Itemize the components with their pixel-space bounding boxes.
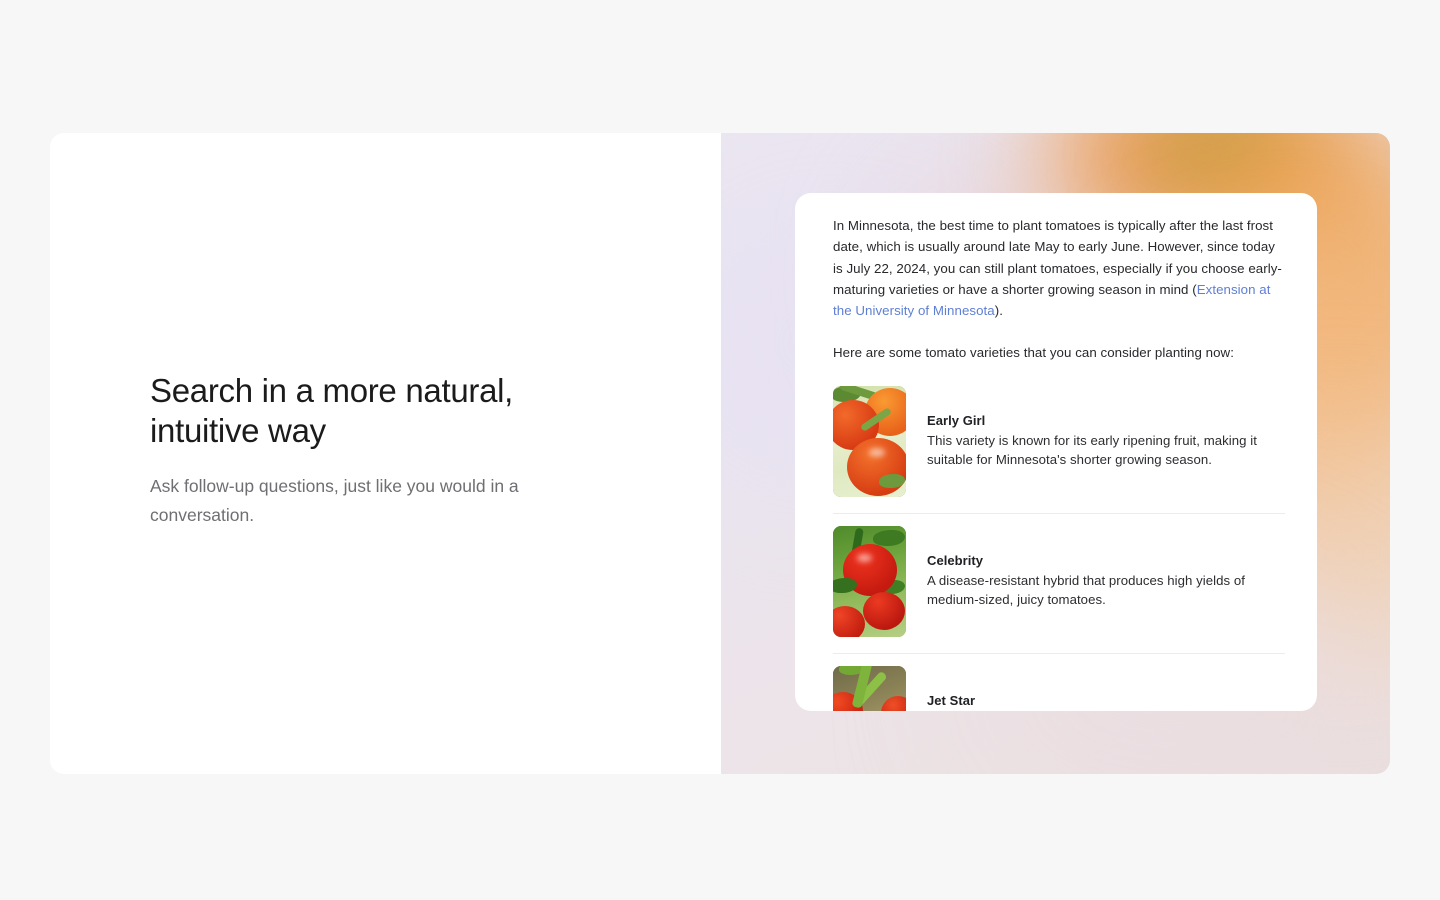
tomato-thumbnail-image[interactable]	[833, 526, 906, 637]
copy-block: Search in a more natural, intuitive way …	[150, 371, 610, 530]
variety-list: Early Girl This variety is known for its…	[833, 382, 1285, 711]
tomato-thumbnail-image[interactable]	[833, 666, 906, 711]
page-subtitle: Ask follow-up questions, just like you w…	[150, 472, 610, 530]
tomato-thumbnail-image[interactable]	[833, 386, 906, 497]
ai-answer-content: In Minnesota, the best time to plant tom…	[795, 193, 1317, 711]
variety-description: This variety is known for its early ripe…	[927, 431, 1275, 470]
list-item[interactable]: Early Girl This variety is known for its…	[833, 382, 1285, 513]
variety-name: Jet Star	[927, 693, 975, 708]
feature-split-card: Search in a more natural, intuitive way …	[50, 133, 1390, 774]
variety-body: Jet Star	[927, 666, 975, 711]
variety-description: A disease-resistant hybrid that produces…	[927, 571, 1275, 610]
answer-paragraph-2: Here are some tomato varieties that you …	[833, 342, 1285, 363]
variety-body: Celebrity A disease-resistant hybrid tha…	[927, 526, 1275, 637]
list-item[interactable]: Celebrity A disease-resistant hybrid tha…	[833, 513, 1285, 653]
answer-paragraph-1: In Minnesota, the best time to plant tom…	[833, 215, 1285, 321]
list-item[interactable]: Jet Star	[833, 653, 1285, 711]
page-title: Search in a more natural, intuitive way	[150, 371, 610, 451]
answer-paragraph-1-tail: ).	[995, 303, 1003, 318]
variety-name: Celebrity	[927, 553, 1275, 568]
visual-pane: In Minnesota, the best time to plant tom…	[721, 133, 1390, 774]
copy-pane: Search in a more natural, intuitive way …	[50, 133, 721, 774]
variety-body: Early Girl This variety is known for its…	[927, 386, 1275, 497]
ai-answer-card: In Minnesota, the best time to plant tom…	[795, 193, 1317, 711]
variety-name: Early Girl	[927, 413, 1275, 428]
